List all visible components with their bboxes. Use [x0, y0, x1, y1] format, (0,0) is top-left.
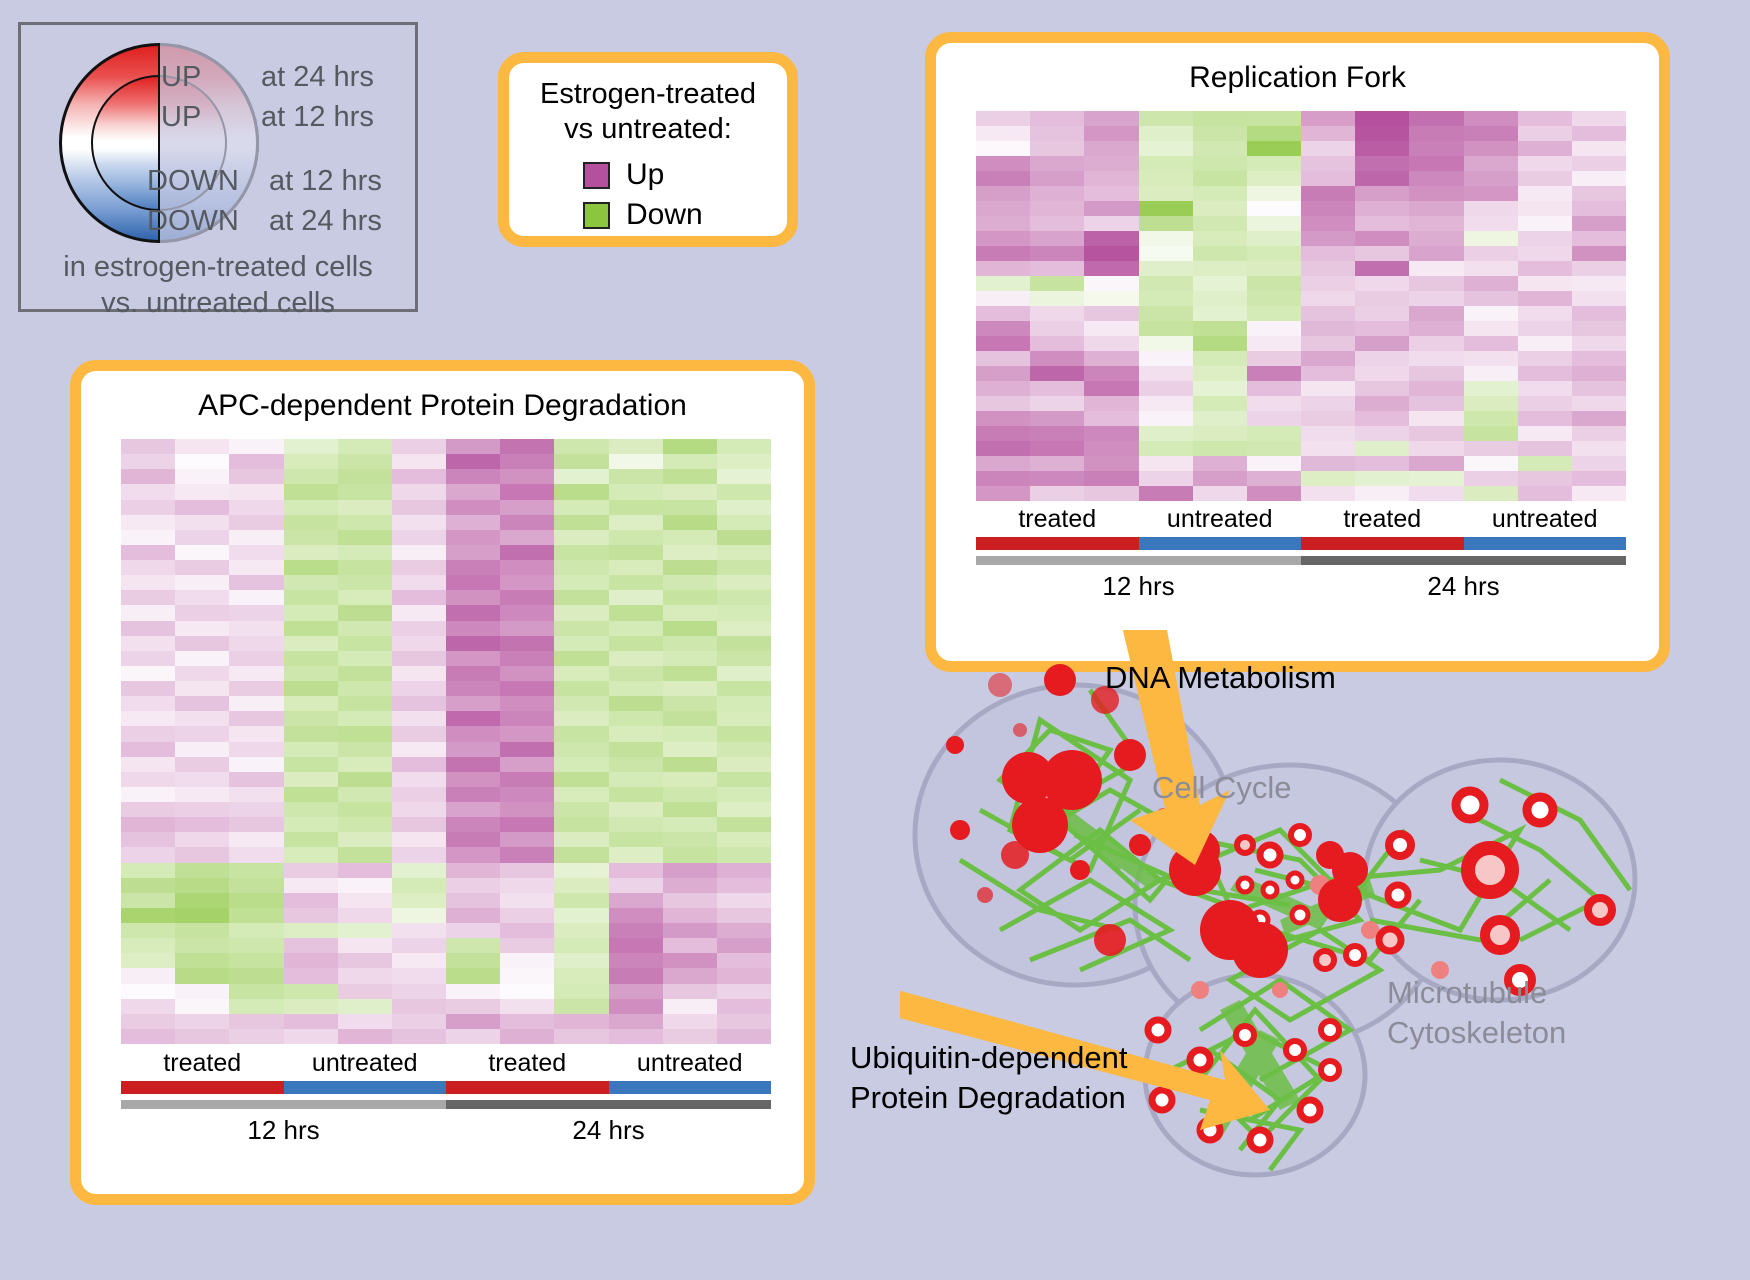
heatmap-cell	[1518, 111, 1572, 126]
heatmap-cell	[229, 863, 283, 878]
heatmap-cell	[1084, 486, 1138, 501]
heatmap-cell	[717, 666, 771, 681]
heatmap-cell	[1301, 411, 1355, 426]
heatmap-cell	[1518, 321, 1572, 336]
cluster-label-ubiquitin: Ubiquitin-dependent	[850, 1040, 1128, 1076]
heatmap-cell	[284, 802, 338, 817]
heatmap-cell	[338, 560, 392, 575]
heatmap-cell	[554, 636, 608, 651]
heatmap-cell	[392, 968, 446, 983]
heatmap-cell	[121, 681, 175, 696]
condition-label: treated	[1301, 505, 1464, 534]
heatmap-cell	[1301, 471, 1355, 486]
heatmap-cell	[229, 893, 283, 908]
heatmap-cell	[284, 651, 338, 666]
cluster-label-cell-cycle: Cell Cycle	[1152, 770, 1292, 806]
network-svg	[900, 630, 1750, 1280]
heatmap-cell	[121, 636, 175, 651]
time-colour-bar	[1301, 556, 1626, 565]
heatmap-cell	[338, 605, 392, 620]
heatmap-cell	[175, 999, 229, 1014]
heatmap-cell	[229, 999, 283, 1014]
legend-state-down-24: DOWN	[147, 205, 239, 238]
heatmap-cell	[338, 802, 392, 817]
heatmap-cell	[1301, 111, 1355, 126]
heatmap-cell	[554, 847, 608, 862]
heatmap-cell	[1572, 486, 1626, 501]
heatmap-cell	[338, 847, 392, 862]
heatmap-cell	[338, 484, 392, 499]
heatmap-cell	[500, 439, 554, 454]
heatmap-cell	[121, 787, 175, 802]
heatmap-cell	[1193, 126, 1247, 141]
heatmap-cell	[175, 711, 229, 726]
heatmap-cell	[284, 666, 338, 681]
heatmap-cell	[1409, 456, 1463, 471]
heatmap-cell	[976, 126, 1030, 141]
heatmap-cell	[392, 726, 446, 741]
heatmap-cell	[1030, 156, 1084, 171]
heatmap-cell	[609, 636, 663, 651]
heatmap-cell	[121, 757, 175, 772]
heatmap-cell	[229, 439, 283, 454]
heatmap-cell	[1247, 321, 1301, 336]
heatmap-cell	[1355, 171, 1409, 186]
heatmap-cell	[1193, 381, 1247, 396]
heatmap-cell	[1193, 216, 1247, 231]
heatmap-cell	[663, 984, 717, 999]
heatmap-cell	[609, 908, 663, 923]
heatmap-cell	[338, 651, 392, 666]
heatmap-cell	[1247, 486, 1301, 501]
heatmap-cell	[1572, 336, 1626, 351]
heatmap-cell	[554, 560, 608, 575]
heatmap-cell	[229, 636, 283, 651]
heatmap-cell	[392, 742, 446, 757]
heatmap-cell	[175, 651, 229, 666]
heatmap-cell	[392, 636, 446, 651]
heatmap-cell	[554, 772, 608, 787]
heatmap-cell	[500, 802, 554, 817]
heatmap-cell	[1518, 201, 1572, 216]
heatmap-cell	[717, 1029, 771, 1044]
heatmap-cell	[446, 711, 500, 726]
heatmap-cell	[1247, 276, 1301, 291]
heatmap-cell	[284, 787, 338, 802]
heatmap-cell	[717, 1014, 771, 1029]
heatmap-cell	[663, 802, 717, 817]
time-colour-bar	[121, 1100, 446, 1109]
heatmap-cell	[1518, 276, 1572, 291]
heatmap-cell	[1030, 336, 1084, 351]
heatmap-cell	[284, 484, 338, 499]
heatmap-cell	[392, 454, 446, 469]
heatmap-cell	[284, 560, 338, 575]
heatmap-cell	[1464, 351, 1518, 366]
heatmap-cell	[338, 1029, 392, 1044]
heatmap-cell	[554, 651, 608, 666]
heatmap-cell	[338, 968, 392, 983]
heatmap-cell	[1193, 231, 1247, 246]
heatmap-cell	[229, 1029, 283, 1044]
heatmap-cell	[500, 968, 554, 983]
heatmap-cell	[284, 742, 338, 757]
heatmap-cell	[663, 469, 717, 484]
heatmap-cell	[1464, 156, 1518, 171]
heatmap-cell	[338, 757, 392, 772]
heatmap-cell	[121, 651, 175, 666]
heatmap-cell	[121, 772, 175, 787]
condition-label: untreated	[1139, 505, 1302, 534]
heatmap-cell	[229, 832, 283, 847]
heatmap-cell	[1409, 246, 1463, 261]
heatmap-cell	[284, 726, 338, 741]
heatmap-cell	[663, 621, 717, 636]
heatmap-cell	[446, 908, 500, 923]
condition-colour-bar	[121, 1081, 284, 1094]
heatmap-cell	[663, 484, 717, 499]
heatmap-cell	[338, 530, 392, 545]
heatmap-cell	[1572, 441, 1626, 456]
heatmap-cell	[1084, 141, 1138, 156]
heatmap-cell	[284, 545, 338, 560]
heatmap-cell	[175, 742, 229, 757]
heatmap-cell	[554, 923, 608, 938]
legend-panel-title: Estrogen-treated vs untreated:	[509, 77, 787, 147]
heatmap-cell	[976, 276, 1030, 291]
heatmap-cell	[1464, 261, 1518, 276]
condition-label: untreated	[609, 1049, 772, 1078]
heatmap-cell	[392, 500, 446, 515]
heatmap-cell	[609, 590, 663, 605]
legend-time-up-24: at 24 hrs	[261, 61, 374, 94]
heatmap-cell	[1139, 171, 1193, 186]
heatmap-cell	[554, 454, 608, 469]
heatmap-cell	[338, 787, 392, 802]
heatmap-cell	[1084, 291, 1138, 306]
heatmap-cell	[554, 530, 608, 545]
heatmap-cell	[1139, 366, 1193, 381]
heatmap-cell	[338, 621, 392, 636]
heatmap-cell	[284, 999, 338, 1014]
heatmap-cell	[1247, 231, 1301, 246]
heatmap-cell	[175, 484, 229, 499]
heatmap-cell	[1409, 186, 1463, 201]
heatmap-cell	[338, 636, 392, 651]
heatmap-cell	[446, 666, 500, 681]
heatmap-cell	[338, 590, 392, 605]
heatmap-cell	[284, 469, 338, 484]
heatmap-cell	[446, 681, 500, 696]
heatmap-cell	[554, 515, 608, 530]
heatmap-cell	[717, 454, 771, 469]
heatmap-cell	[1572, 351, 1626, 366]
time-colour-bar	[976, 556, 1301, 565]
heatmap-cell	[1084, 321, 1138, 336]
heatmap-cell	[554, 817, 608, 832]
heatmap-cell	[446, 1014, 500, 1029]
heatmap-cell	[1572, 381, 1626, 396]
heatmap-cell	[175, 605, 229, 620]
heatmap-cell	[1355, 156, 1409, 171]
heatmap-cell	[1301, 381, 1355, 396]
heatmap-cell	[392, 560, 446, 575]
heatmap-cell	[500, 953, 554, 968]
heatmap-cell	[717, 832, 771, 847]
heatmap-cell	[1572, 426, 1626, 441]
heatmap-cell	[175, 893, 229, 908]
heatmap-cell	[175, 984, 229, 999]
heatmap-cell	[663, 772, 717, 787]
heatmap-cell	[1084, 126, 1138, 141]
heatmap-cell	[1084, 456, 1138, 471]
heatmap-cell	[338, 454, 392, 469]
heatmap-cell	[338, 515, 392, 530]
replication-fork-title: Replication Fork	[936, 61, 1659, 95]
heatmap-cell	[609, 878, 663, 893]
heatmap-cell	[1084, 441, 1138, 456]
heatmap-cell	[554, 938, 608, 953]
heatmap-cell	[1139, 456, 1193, 471]
heatmap-cell	[554, 484, 608, 499]
heatmap-cell	[175, 1014, 229, 1029]
heatmap-cell	[609, 454, 663, 469]
heatmap-cell	[500, 878, 554, 893]
heatmap-cell	[121, 863, 175, 878]
apc-time-labels: 12 hrs24 hrs	[121, 1115, 771, 1146]
heatmap-cell	[1247, 111, 1301, 126]
heatmap-cell	[121, 923, 175, 938]
heatmap-cell	[229, 938, 283, 953]
heatmap-cell	[500, 469, 554, 484]
heatmap-cell	[446, 832, 500, 847]
heatmap-cell	[446, 802, 500, 817]
heatmap-cell	[500, 545, 554, 560]
heatmap-cell	[1409, 156, 1463, 171]
replication-fork-panel: Replication Fork treateduntreatedtreated…	[925, 32, 1670, 672]
heatmap-cell	[229, 772, 283, 787]
heatmap-cell	[1464, 366, 1518, 381]
heatmap-cell	[663, 923, 717, 938]
heatmap-cell	[554, 802, 608, 817]
heatmap-cell	[284, 515, 338, 530]
heatmap-cell	[1301, 396, 1355, 411]
heatmap-cell	[1030, 261, 1084, 276]
heatmap-cell	[1464, 201, 1518, 216]
heatmap-cell	[284, 817, 338, 832]
heatmap-cell	[284, 590, 338, 605]
heatmap-cell	[554, 726, 608, 741]
legend-caption-line1: in estrogen-treated cells	[21, 251, 415, 284]
heatmap-cell	[446, 500, 500, 515]
heatmap-cell	[1409, 291, 1463, 306]
heatmap-cell	[121, 802, 175, 817]
heatmap-cell	[1409, 441, 1463, 456]
heatmap-cell	[609, 999, 663, 1014]
heatmap-cell	[338, 832, 392, 847]
condition-colour-bar	[976, 537, 1139, 550]
heatmap-cell	[1030, 201, 1084, 216]
heatmap-cell	[1409, 201, 1463, 216]
heatmap-cell	[1464, 246, 1518, 261]
heatmap-cell	[663, 968, 717, 983]
heatmap-cell	[1518, 156, 1572, 171]
heatmap-cell	[1409, 141, 1463, 156]
heatmap-cell	[609, 651, 663, 666]
heatmap-cell	[338, 923, 392, 938]
heatmap-cell	[1139, 411, 1193, 426]
heatmap-cell	[1247, 381, 1301, 396]
heatmap-cell	[284, 953, 338, 968]
heatmap-cell	[1247, 336, 1301, 351]
heatmap-cell	[1572, 231, 1626, 246]
heatmap-cell	[1301, 276, 1355, 291]
heatmap-cell	[663, 938, 717, 953]
heatmap-cell	[229, 651, 283, 666]
cluster-label-microtubule: Microtubule	[1387, 975, 1547, 1011]
heatmap-cell	[554, 681, 608, 696]
heatmap-cell	[1139, 441, 1193, 456]
heatmap-cell	[717, 439, 771, 454]
heatmap-cell	[121, 545, 175, 560]
heatmap-cell	[1572, 126, 1626, 141]
heatmap-cell	[284, 863, 338, 878]
heatmap-cell	[1084, 471, 1138, 486]
heatmap-cell	[663, 847, 717, 862]
heatmap-cell	[717, 787, 771, 802]
heatmap-cell	[175, 500, 229, 515]
heatmap-cell	[392, 893, 446, 908]
heatmap-cell	[392, 953, 446, 968]
heatmap-cell	[1084, 216, 1138, 231]
heatmap-cell	[1139, 426, 1193, 441]
heatmap-cell	[121, 968, 175, 983]
heatmap-cell	[1084, 186, 1138, 201]
heatmap-cell	[121, 999, 175, 1014]
heatmap-cell	[663, 666, 717, 681]
heatmap-cell	[1464, 336, 1518, 351]
heatmap-cell	[1030, 186, 1084, 201]
heatmap-cell	[1193, 171, 1247, 186]
heatmap-cell	[229, 1014, 283, 1029]
heatmap-cell	[121, 1029, 175, 1044]
heatmap-cell	[121, 696, 175, 711]
heatmap-cell	[500, 605, 554, 620]
condition-colour-bar	[1139, 537, 1302, 550]
heatmap-cell	[392, 469, 446, 484]
heatmap-cell	[554, 787, 608, 802]
heatmap-cell	[175, 832, 229, 847]
heatmap-cell	[1355, 216, 1409, 231]
heatmap-cell	[392, 817, 446, 832]
heatmap-cell	[663, 742, 717, 757]
heatmap-cell	[1464, 186, 1518, 201]
heatmap-cell	[1355, 186, 1409, 201]
heatmap-cell	[338, 878, 392, 893]
heatmap-cell	[284, 908, 338, 923]
heatmap-cell	[500, 817, 554, 832]
heatmap-cell	[1139, 396, 1193, 411]
heatmap-cell	[663, 454, 717, 469]
heatmap-cell	[1464, 126, 1518, 141]
heatmap-cell	[338, 893, 392, 908]
apc-title: APC-dependent Protein Degradation	[81, 389, 804, 423]
heatmap-cell	[284, 454, 338, 469]
heatmap-cell	[392, 530, 446, 545]
heatmap-cell	[1139, 186, 1193, 201]
heatmap-cell	[500, 787, 554, 802]
heatmap-cell	[1084, 306, 1138, 321]
heatmap-cell	[500, 938, 554, 953]
heatmap-cell	[229, 847, 283, 862]
heatmap-cell	[1247, 171, 1301, 186]
heatmap-cell	[1464, 306, 1518, 321]
heatmap-cell	[229, 696, 283, 711]
heatmap-cell	[976, 141, 1030, 156]
heatmap-cell	[229, 515, 283, 530]
heatmap-cell	[1518, 486, 1572, 501]
heatmap-cell	[1030, 111, 1084, 126]
heatmap-cell	[554, 908, 608, 923]
heatmap-cell	[1464, 231, 1518, 246]
heatmap-cell	[121, 742, 175, 757]
heatmap-cell	[1193, 426, 1247, 441]
heatmap-cell	[446, 999, 500, 1014]
heatmap-cell	[284, 832, 338, 847]
legend-item-down: Down	[583, 198, 703, 232]
heatmap-cell	[229, 908, 283, 923]
heatmap-cell	[976, 111, 1030, 126]
heatmap-cell	[284, 605, 338, 620]
replication-fork-time-bar	[976, 556, 1626, 565]
heatmap-cell	[392, 575, 446, 590]
heatmap-cell	[284, 847, 338, 862]
heatmap-cell	[976, 486, 1030, 501]
heatmap-cell	[663, 999, 717, 1014]
heatmap-cell	[1518, 306, 1572, 321]
heatmap-cell	[1193, 111, 1247, 126]
heatmap-cell	[229, 484, 283, 499]
heatmap-cell	[1572, 276, 1626, 291]
heatmap-cell	[1301, 201, 1355, 216]
heatmap-cell	[1030, 126, 1084, 141]
heatmap-cell	[500, 666, 554, 681]
heatmap-cell	[609, 984, 663, 999]
heatmap-cell	[1084, 231, 1138, 246]
heatmap-cell	[1572, 411, 1626, 426]
heatmap-cell	[609, 1029, 663, 1044]
heatmap-cell	[976, 246, 1030, 261]
heatmap-cell	[338, 439, 392, 454]
heatmap-cell	[338, 742, 392, 757]
heatmap-cell	[284, 621, 338, 636]
heatmap-cell	[1139, 126, 1193, 141]
heatmap-cell	[1572, 261, 1626, 276]
heatmap-cell	[554, 590, 608, 605]
heatmap-cell	[1409, 486, 1463, 501]
heatmap-cell	[175, 515, 229, 530]
heatmap-cell	[392, 1014, 446, 1029]
time-label: 12 hrs	[121, 1115, 446, 1146]
heatmap-cell	[446, 469, 500, 484]
heatmap-cell	[717, 605, 771, 620]
heatmap-cell	[229, 953, 283, 968]
heatmap-cell	[1518, 366, 1572, 381]
heatmap-cell	[1193, 306, 1247, 321]
heatmap-cell	[1301, 171, 1355, 186]
heatmap-cell	[392, 787, 446, 802]
heatmap-cell	[1518, 141, 1572, 156]
